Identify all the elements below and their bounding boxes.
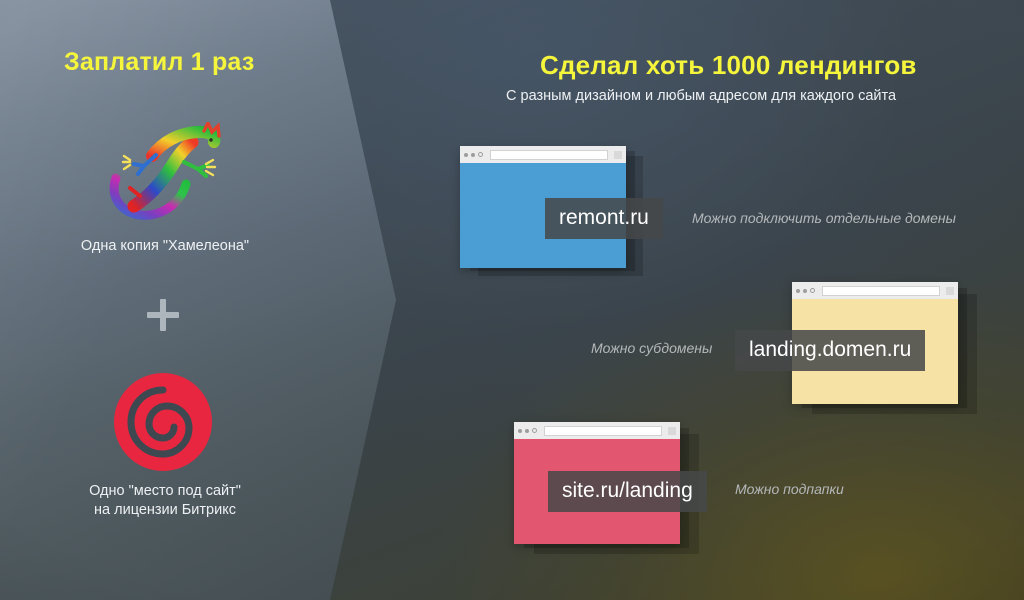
chameleon-caption: Одна копия "Хамелеона" (0, 237, 330, 256)
window-dot-icon (464, 153, 468, 157)
browser-titlebar-3 (514, 422, 680, 439)
window-dot-icon (471, 153, 475, 157)
browser-titlebar-1 (460, 146, 626, 163)
url-label-1: remont.ru (545, 198, 663, 239)
window-circle-icon (810, 288, 815, 293)
window-dot-icon (803, 289, 807, 293)
left-heading: Заплатил 1 раз (64, 48, 254, 77)
plus-sign-icon (147, 299, 179, 331)
window-close-icon[interactable] (668, 427, 676, 435)
url-label-2: landing.domen.ru (735, 330, 925, 371)
browser-address-bar-3[interactable] (544, 426, 662, 436)
bitrix-caption-line1: Одно "место под сайт" (89, 483, 241, 499)
bitrix-logo-icon (113, 372, 213, 472)
browser-address-bar-2[interactable] (822, 286, 940, 296)
browser-titlebar-2 (792, 282, 958, 299)
window-circle-icon (478, 152, 483, 157)
browser-address-bar-1[interactable] (490, 150, 608, 160)
chameleon-logo-icon (100, 122, 230, 222)
url-label-3: site.ru/landing (548, 471, 707, 512)
window-close-icon[interactable] (946, 287, 954, 295)
note-label-2: Можно субдомены (591, 340, 712, 356)
window-dot-icon (525, 429, 529, 433)
note-label-1: Можно подключить отдельные домены (692, 210, 956, 226)
infographic-canvas: Заплатил 1 раз (0, 0, 1024, 600)
window-close-icon[interactable] (614, 151, 622, 159)
bitrix-caption: Одно "место под сайт" на лицензии Битрик… (0, 482, 330, 520)
bitrix-caption-line2: на лицензии Битрикс (94, 502, 236, 518)
right-heading: Сделал хоть 1000 лендингов (540, 50, 917, 81)
window-dot-icon (796, 289, 800, 293)
window-dot-icon (518, 429, 522, 433)
right-subheading: С разным дизайном и любым адресом для ка… (506, 88, 896, 104)
note-label-3: Можно подпапки (735, 481, 844, 497)
window-circle-icon (532, 428, 537, 433)
